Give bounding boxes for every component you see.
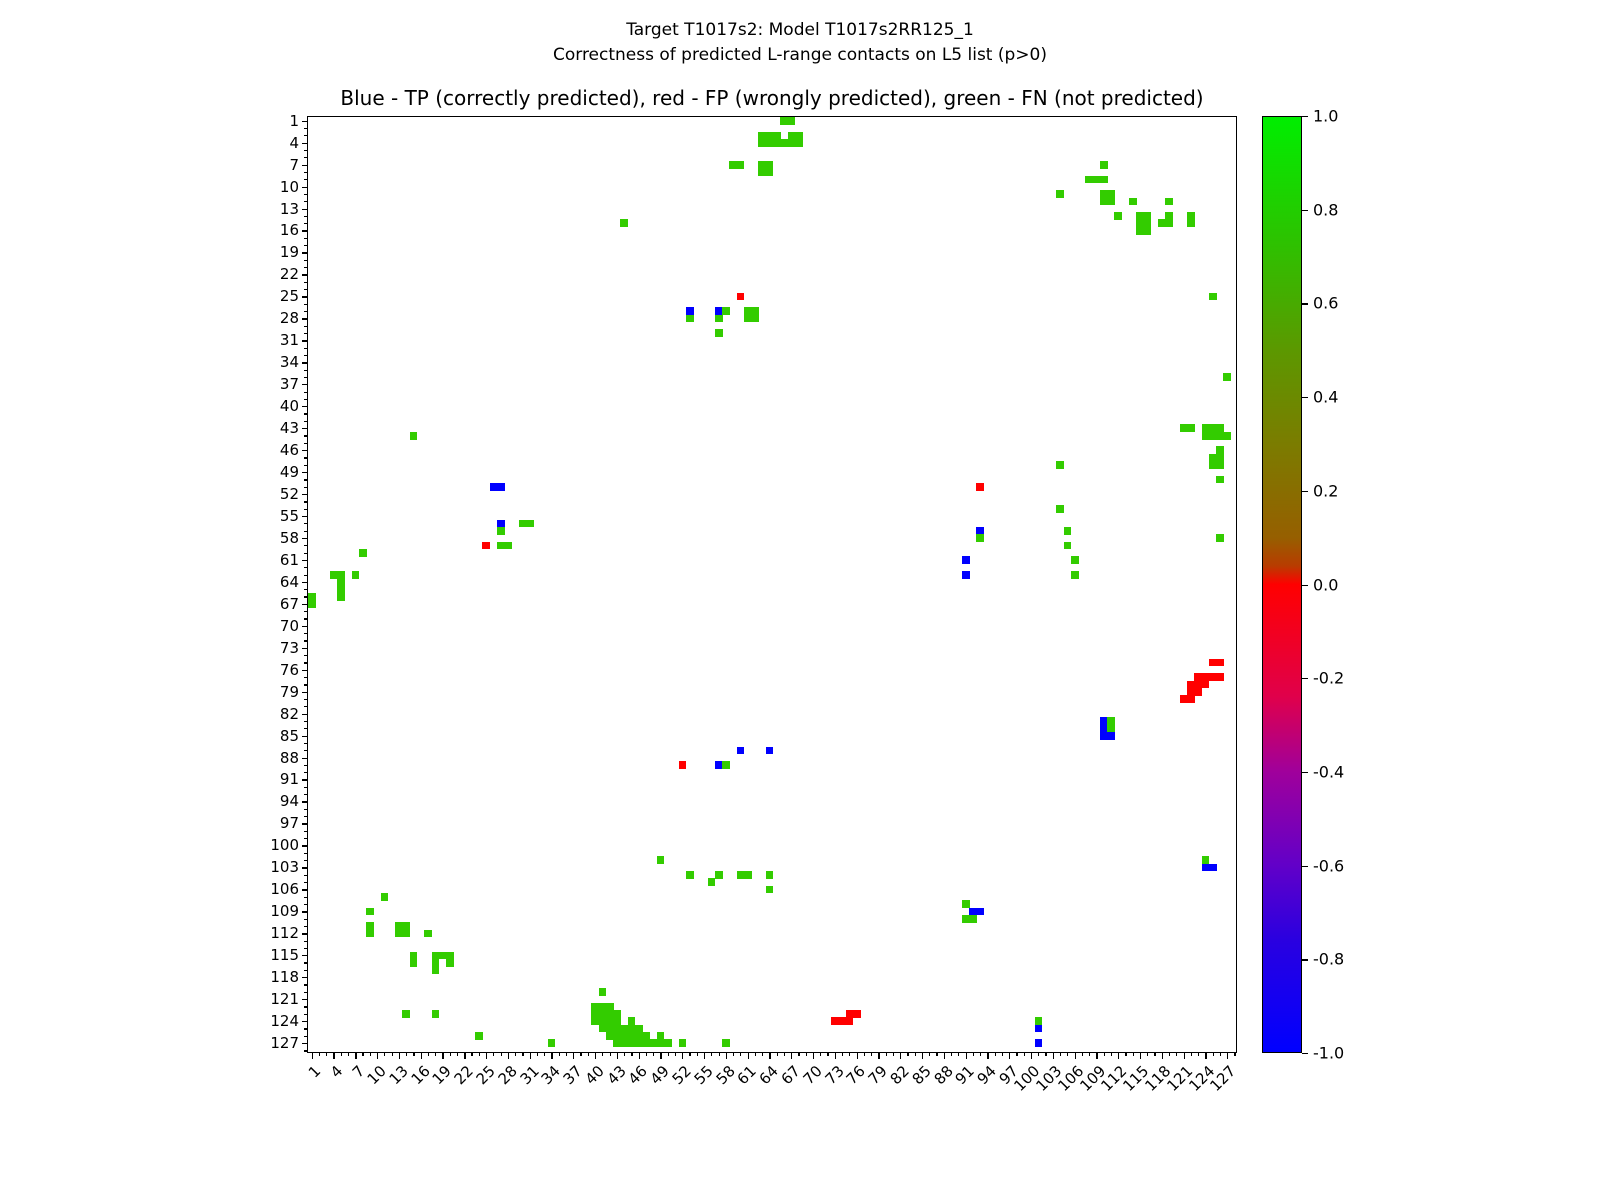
x-tick-major	[1162, 1052, 1163, 1059]
x-tick-major	[573, 1052, 574, 1059]
x-tick-minor	[1024, 1052, 1025, 1056]
colorbar-tick	[1302, 585, 1308, 586]
contact-cell	[410, 432, 418, 440]
x-tick-minor	[1045, 1052, 1046, 1056]
contact-cell	[1223, 432, 1231, 440]
y-tick-minor	[304, 655, 308, 656]
y-tick-label: 40	[280, 397, 299, 415]
contact-cell	[432, 1010, 440, 1018]
y-tick-minor	[304, 926, 308, 927]
y-tick-major	[302, 604, 309, 605]
contact-cell	[1056, 190, 1064, 198]
contact-cell	[679, 1039, 687, 1047]
x-tick-major	[704, 1052, 705, 1059]
x-tick-minor	[1060, 1052, 1061, 1056]
x-tick-minor	[1125, 1052, 1126, 1056]
y-tick-minor	[304, 545, 308, 546]
x-tick-minor	[915, 1052, 916, 1056]
contact-cell	[1056, 505, 1064, 513]
contact-cell	[1216, 534, 1224, 542]
y-tick-minor	[304, 875, 308, 876]
y-tick-major	[302, 823, 309, 824]
y-tick-label: 13	[280, 200, 299, 218]
x-tick-minor	[777, 1052, 778, 1056]
x-tick-minor	[907, 1052, 908, 1056]
y-tick-major	[302, 230, 309, 231]
x-tick-major	[1118, 1052, 1119, 1059]
x-tick-minor	[566, 1052, 567, 1056]
y-tick-minor	[304, 399, 308, 400]
y-tick-minor	[304, 179, 308, 180]
x-tick-minor	[501, 1052, 502, 1056]
x-tick-major	[1075, 1052, 1076, 1059]
x-tick-minor	[602, 1052, 603, 1056]
x-tick-minor	[406, 1052, 407, 1056]
x-tick-minor	[522, 1052, 523, 1056]
contact-cell	[1202, 681, 1210, 689]
contact-cell	[1064, 527, 1072, 535]
contact-cell	[1216, 461, 1224, 469]
x-tick-minor	[580, 1052, 581, 1056]
colorbar-tick-label: -0.4	[1313, 762, 1344, 781]
y-tick-minor	[304, 941, 308, 942]
y-tick-minor	[304, 260, 308, 261]
contact-cell	[766, 871, 774, 879]
contact-cell	[1056, 461, 1064, 469]
y-tick-minor	[304, 860, 308, 861]
contact-cell	[599, 988, 607, 996]
x-tick-major	[595, 1052, 596, 1059]
y-tick-minor	[304, 662, 308, 663]
x-tick-major	[987, 1052, 988, 1059]
contact-cell	[548, 1039, 556, 1047]
y-tick-minor	[304, 523, 308, 524]
y-tick-minor	[304, 575, 308, 576]
y-tick-minor	[304, 531, 308, 532]
y-tick-major	[302, 538, 309, 539]
x-tick-major	[355, 1052, 356, 1059]
y-tick-major	[302, 1021, 309, 1022]
contact-cell	[424, 930, 432, 938]
y-tick-major	[302, 714, 309, 715]
y-tick-label: 25	[280, 287, 299, 305]
contact-cell	[410, 959, 418, 967]
x-tick-minor	[1147, 1052, 1148, 1056]
contact-cell	[737, 747, 745, 755]
colorbar-tick-label: 0.0	[1313, 575, 1338, 594]
y-tick-minor	[304, 238, 308, 239]
y-tick-minor	[304, 355, 308, 356]
contact-cell	[657, 856, 665, 864]
x-tick-minor	[341, 1052, 342, 1056]
y-tick-minor	[304, 128, 308, 129]
colorbar-tick	[1302, 1053, 1308, 1054]
y-tick-minor	[304, 728, 308, 729]
x-tick-minor	[1198, 1052, 1199, 1056]
y-tick-minor	[304, 919, 308, 920]
y-tick-label: 103	[270, 858, 299, 876]
y-tick-label: 61	[280, 551, 299, 569]
contact-cell	[402, 930, 410, 938]
x-tick-major	[377, 1052, 378, 1059]
contact-cell	[432, 966, 440, 974]
y-tick-minor	[304, 267, 308, 268]
contact-cell	[1216, 659, 1224, 667]
contact-cell	[788, 117, 796, 125]
x-tick-minor	[1002, 1052, 1003, 1056]
y-tick-label: 16	[280, 221, 299, 239]
y-tick-major	[302, 692, 309, 693]
x-tick-major	[1031, 1052, 1032, 1059]
contact-map-cells	[308, 117, 1236, 1052]
contact-cell	[366, 908, 374, 916]
contact-cell	[679, 761, 687, 769]
y-tick-minor	[304, 897, 308, 898]
contact-cell	[497, 527, 505, 535]
x-tick-minor	[871, 1052, 872, 1056]
x-tick-label-text: 1	[305, 1062, 324, 1081]
contact-cell	[1107, 732, 1115, 740]
y-tick-minor	[304, 311, 308, 312]
colorbar-tick-label: 0.8	[1313, 200, 1338, 219]
y-tick-minor	[304, 596, 308, 597]
y-tick-major	[302, 406, 309, 407]
x-tick-label-text: 7	[348, 1062, 367, 1081]
contact-cell	[969, 915, 977, 923]
contact-cell	[708, 878, 716, 886]
y-tick-minor	[304, 135, 308, 136]
y-tick-minor	[304, 611, 308, 612]
x-tick-major	[617, 1052, 618, 1059]
x-tick-minor	[929, 1052, 930, 1056]
x-tick-minor	[384, 1052, 385, 1056]
y-tick-label: 118	[270, 968, 299, 986]
y-tick-major	[302, 384, 309, 385]
contact-cell	[475, 1032, 483, 1040]
contact-cell	[722, 761, 730, 769]
y-tick-minor	[304, 413, 308, 414]
y-tick-minor	[304, 370, 308, 371]
x-tick-minor	[719, 1052, 720, 1056]
x-tick-major	[1227, 1052, 1228, 1059]
colorbar-tick	[1302, 866, 1308, 867]
y-tick-major	[302, 472, 309, 473]
y-tick-minor	[304, 838, 308, 839]
y-tick-minor	[304, 150, 308, 151]
colorbar-tick	[1302, 116, 1308, 117]
contact-cell	[1187, 219, 1195, 227]
y-tick-label: 106	[270, 880, 299, 898]
y-tick-major	[302, 494, 309, 495]
y-tick-label: 67	[280, 595, 299, 613]
x-tick-major	[922, 1052, 923, 1059]
contact-cell	[1064, 542, 1072, 550]
colorbar-tick	[1302, 397, 1308, 398]
y-tick-label: 52	[280, 485, 299, 503]
x-tick-minor	[820, 1052, 821, 1056]
x-tick-minor	[1220, 1052, 1221, 1056]
y-tick-major	[302, 121, 309, 122]
y-tick-major	[302, 867, 309, 868]
y-tick-minor	[304, 457, 308, 458]
contact-cell	[1144, 227, 1152, 235]
y-tick-label: 76	[280, 661, 299, 679]
y-tick-minor	[304, 1036, 308, 1037]
y-tick-minor	[304, 787, 308, 788]
axes-title-legend: Blue - TP (correctly predicted), red - F…	[307, 86, 1237, 110]
contact-cell	[381, 893, 389, 901]
y-tick-minor	[304, 794, 308, 795]
y-tick-minor	[304, 201, 308, 202]
y-tick-major	[302, 955, 309, 956]
y-tick-major	[302, 933, 309, 934]
contact-cell	[1035, 1025, 1043, 1033]
x-tick-minor	[1038, 1052, 1039, 1056]
x-tick-minor	[493, 1052, 494, 1056]
y-tick-minor	[304, 882, 308, 883]
y-tick-label: 97	[280, 814, 299, 832]
y-tick-minor	[304, 743, 308, 744]
contact-cell	[352, 571, 360, 579]
y-tick-minor	[304, 699, 308, 700]
x-tick-minor	[624, 1052, 625, 1056]
colorbar-tick	[1302, 210, 1308, 211]
y-tick-major	[302, 911, 309, 912]
contact-cell	[737, 161, 745, 169]
x-tick-major	[1053, 1052, 1054, 1059]
y-tick-minor	[304, 750, 308, 751]
colorbar-tick-label: -1.0	[1313, 1044, 1344, 1063]
x-tick-major	[900, 1052, 901, 1059]
x-tick-minor	[326, 1052, 327, 1056]
y-tick-label: 82	[280, 705, 299, 723]
y-tick-major	[302, 648, 309, 649]
contact-cell	[1194, 688, 1202, 696]
y-tick-minor	[304, 706, 308, 707]
x-tick-major	[660, 1052, 661, 1059]
y-tick-minor	[304, 618, 308, 619]
contact-cell	[664, 1039, 672, 1047]
contact-cell	[1187, 424, 1195, 432]
contact-cell	[744, 871, 752, 879]
contact-cell	[308, 600, 316, 608]
x-tick-minor	[1133, 1052, 1134, 1056]
y-tick-minor	[304, 1028, 308, 1029]
x-tick-major	[1140, 1052, 1141, 1059]
y-tick-major	[302, 252, 309, 253]
contact-cell	[766, 886, 774, 894]
y-tick-major	[302, 889, 309, 890]
x-tick-minor	[370, 1052, 371, 1056]
y-tick-label: 34	[280, 353, 299, 371]
y-tick-minor	[304, 282, 308, 283]
y-tick-minor	[304, 567, 308, 568]
x-tick-minor	[1191, 1052, 1192, 1056]
y-tick-minor	[304, 984, 308, 985]
x-tick-label-text: 4	[327, 1062, 346, 1081]
contact-cell	[686, 871, 694, 879]
y-tick-label: 1	[289, 112, 299, 130]
x-tick-minor	[1169, 1052, 1170, 1056]
y-tick-label: 88	[280, 749, 299, 767]
x-tick-major	[944, 1052, 945, 1059]
x-tick-major	[508, 1052, 509, 1059]
suptitle-line-2: Correctness of predicted L-range contact…	[553, 45, 1047, 65]
contact-cell	[620, 219, 628, 227]
contact-cell	[1216, 476, 1224, 484]
x-tick-minor	[995, 1052, 996, 1056]
contact-cell	[337, 593, 345, 601]
contact-cell	[1165, 198, 1173, 206]
x-tick-major	[551, 1052, 552, 1059]
x-tick-major	[333, 1052, 334, 1059]
y-tick-major	[302, 340, 309, 341]
colorbar-tick-label: -0.2	[1313, 669, 1344, 688]
x-tick-major	[966, 1052, 967, 1059]
x-tick-minor	[689, 1052, 690, 1056]
x-tick-minor	[1082, 1052, 1083, 1056]
x-tick-minor	[610, 1052, 611, 1056]
x-tick-major	[682, 1052, 683, 1059]
y-tick-major	[302, 209, 309, 210]
y-tick-label: 19	[280, 243, 299, 261]
y-tick-minor	[304, 194, 308, 195]
y-tick-minor	[304, 465, 308, 466]
x-tick-major	[769, 1052, 770, 1059]
x-tick-minor	[893, 1052, 894, 1056]
y-tick-minor	[304, 772, 308, 773]
y-tick-minor	[304, 831, 308, 832]
y-tick-label: 121	[270, 990, 299, 1008]
x-tick-major	[639, 1052, 640, 1059]
y-tick-minor	[304, 684, 308, 685]
x-tick-minor	[958, 1052, 959, 1056]
x-tick-minor	[1089, 1052, 1090, 1056]
colorbar-tick	[1302, 959, 1308, 960]
y-tick-minor	[304, 809, 308, 810]
colorbar-tick-label: 0.6	[1313, 294, 1338, 313]
x-tick-minor	[740, 1052, 741, 1056]
y-tick-minor	[304, 765, 308, 766]
y-tick-minor	[304, 172, 308, 173]
y-tick-minor	[304, 216, 308, 217]
contact-cell	[497, 483, 505, 491]
y-tick-label: 73	[280, 639, 299, 657]
contact-cell	[722, 307, 730, 315]
x-tick-minor	[973, 1052, 974, 1056]
x-tick-major	[748, 1052, 749, 1059]
x-tick-minor	[471, 1052, 472, 1056]
contact-cell	[1216, 673, 1224, 681]
contact-cell	[686, 315, 694, 323]
contact-cell	[962, 556, 970, 564]
y-tick-label: 31	[280, 331, 299, 349]
contact-cell	[1129, 198, 1137, 206]
y-tick-label: 49	[280, 463, 299, 481]
x-tick-major	[486, 1052, 487, 1059]
y-tick-minor	[304, 640, 308, 641]
y-tick-label: 127	[270, 1034, 299, 1052]
contact-cell	[853, 1010, 861, 1018]
y-tick-major	[302, 582, 309, 583]
y-tick-minor	[304, 289, 308, 290]
x-tick-minor	[842, 1052, 843, 1056]
colorbar-tick-label: -0.8	[1313, 950, 1344, 969]
y-tick-label: 37	[280, 375, 299, 393]
colorbar-tick	[1302, 303, 1308, 304]
figure-suptitle: Target T1017s2: Model T1017s2RR125_1Corr…	[0, 18, 1600, 68]
contact-cell	[526, 520, 534, 528]
y-tick-minor	[304, 348, 308, 349]
contact-cell	[366, 930, 374, 938]
contact-cell	[1071, 556, 1079, 564]
contact-cell	[1187, 695, 1195, 703]
colorbar-tick-label: 1.0	[1313, 107, 1338, 126]
contact-cell	[482, 542, 490, 550]
y-tick-minor	[304, 377, 308, 378]
y-tick-label: 4	[289, 134, 299, 152]
x-tick-major	[442, 1052, 443, 1059]
x-tick-minor	[1213, 1052, 1214, 1056]
x-tick-minor	[1176, 1052, 1177, 1056]
y-tick-minor	[304, 157, 308, 158]
x-tick-minor	[1154, 1052, 1155, 1056]
y-tick-minor	[304, 992, 308, 993]
y-tick-minor	[304, 435, 308, 436]
x-tick-minor	[348, 1052, 349, 1056]
x-tick-minor	[755, 1052, 756, 1056]
y-tick-label: 115	[270, 946, 299, 964]
x-tick-minor	[1234, 1052, 1235, 1056]
x-tick-minor	[798, 1052, 799, 1056]
y-tick-minor	[304, 1050, 308, 1051]
x-tick-major	[835, 1052, 836, 1059]
x-tick-major	[878, 1052, 879, 1059]
y-tick-label: 64	[280, 573, 299, 591]
y-tick-major	[302, 274, 309, 275]
x-tick-major	[1096, 1052, 1097, 1059]
y-tick-label: 43	[280, 419, 299, 437]
y-tick-minor	[304, 589, 308, 590]
contact-cell	[1165, 219, 1173, 227]
y-tick-minor	[304, 677, 308, 678]
x-tick-minor	[537, 1052, 538, 1056]
contact-cell	[795, 139, 803, 147]
x-tick-major	[1205, 1052, 1206, 1059]
colorbar-tick-label: 0.2	[1313, 481, 1338, 500]
x-tick-minor	[711, 1052, 712, 1056]
x-tick-major	[312, 1052, 313, 1059]
x-tick-minor	[827, 1052, 828, 1056]
colorbar-tick	[1302, 772, 1308, 773]
y-tick-label: 94	[280, 792, 299, 810]
x-tick-minor	[784, 1052, 785, 1056]
contact-cell	[402, 1010, 410, 1018]
x-tick-minor	[864, 1052, 865, 1056]
y-tick-minor	[304, 245, 308, 246]
contact-cell	[1100, 176, 1108, 184]
y-tick-minor	[304, 1006, 308, 1007]
y-tick-major	[302, 143, 309, 144]
x-tick-minor	[428, 1052, 429, 1056]
contact-cell	[976, 908, 984, 916]
contact-cell	[1100, 161, 1108, 169]
x-tick-minor	[1111, 1052, 1112, 1056]
contact-cell	[962, 571, 970, 579]
y-tick-minor	[304, 326, 308, 327]
y-tick-label: 70	[280, 617, 299, 635]
y-tick-minor	[304, 721, 308, 722]
